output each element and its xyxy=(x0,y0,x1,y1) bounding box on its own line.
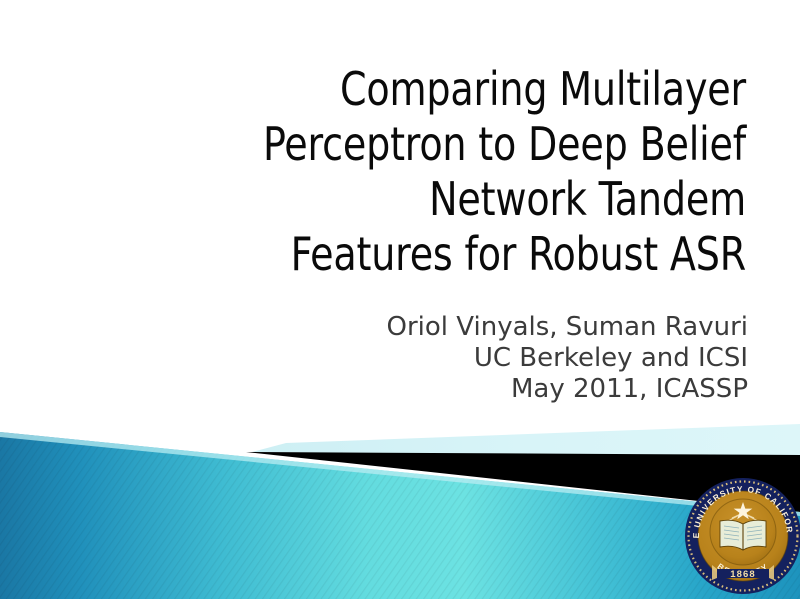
seal-year: 1868 xyxy=(730,569,756,580)
title-line-3: Network Tandem xyxy=(115,172,746,227)
subtitle-affiliation: UC Berkeley and ICSI xyxy=(60,343,748,374)
subtitle-authors: Oriol Vinyals, Suman Ravuri xyxy=(60,312,748,343)
seal-open-book-icon xyxy=(720,520,766,550)
title-line-4: Features for Robust ASR xyxy=(115,227,746,282)
band-top-highlight xyxy=(0,432,800,516)
title-slide: Comparing Multilayer Perceptron to Deep … xyxy=(0,0,800,599)
subtitle-venue: May 2011, ICASSP xyxy=(60,374,748,405)
page-title: Comparing Multilayer Perceptron to Deep … xyxy=(60,62,746,282)
subtitle: Oriol Vinyals, Suman Ravuri UC Berkeley … xyxy=(60,312,748,405)
uc-berkeley-seal: THE UNIVERSITY OF CALIFORNIA BERKELEY xyxy=(684,477,800,595)
pale-cyan-wedge xyxy=(252,424,800,456)
turquoise-band xyxy=(0,432,800,599)
title-line-1: Comparing Multilayer xyxy=(115,62,746,117)
turquoise-band-texture xyxy=(0,432,800,599)
title-line-2: Perceptron to Deep Belief xyxy=(115,117,746,172)
